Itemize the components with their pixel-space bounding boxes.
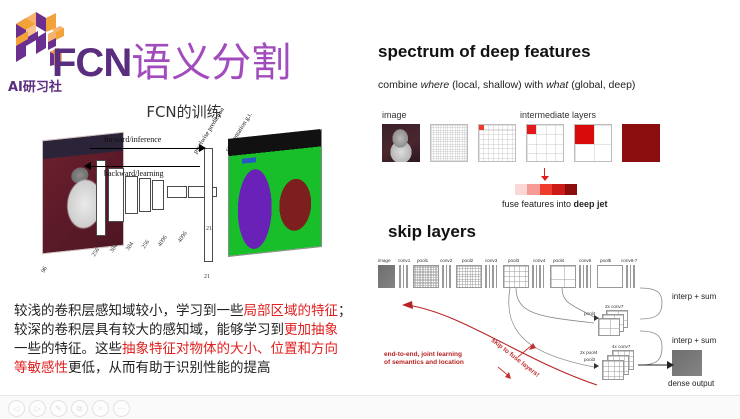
copy-button[interactable]: ⧉ <box>71 400 88 417</box>
pen-icon: ✎ <box>55 404 62 413</box>
image-label: image <box>382 110 407 120</box>
back-icon: ◁ <box>13 404 19 413</box>
title-latin: FCN <box>52 41 131 85</box>
subtitle-em-what: what <box>546 79 568 91</box>
image-thumbnail <box>382 124 420 162</box>
copy-icon: ⧉ <box>77 404 83 414</box>
activation-cell <box>479 125 484 130</box>
body-line4-b: 更低，从而有助于识别性能的提高 <box>68 360 271 376</box>
more-button[interactable]: ⋯ <box>113 400 130 417</box>
title-chinese: 语义分割 <box>131 40 291 86</box>
feature-grid-2 <box>574 124 612 162</box>
play-icon: ▷ <box>34 404 40 413</box>
activation-cell <box>527 125 536 134</box>
deep-jet-colorbar <box>515 184 577 195</box>
input-depth-label: 96 <box>41 266 49 274</box>
body-line2-highlight: 更加抽象 <box>284 322 338 338</box>
feature-grid-1 <box>622 124 660 162</box>
layer-depth-label: 4096 <box>177 231 189 244</box>
jet-swatch <box>552 184 564 195</box>
body-line2-a: 较深的卷积层具有较大的感知域，能够学习到 <box>14 322 284 338</box>
fuse-arrow-head <box>541 176 549 181</box>
conv-slab <box>167 186 187 198</box>
body-line3-highlight: 抽象特征对物体的大小、位置和方向 <box>122 341 338 357</box>
body-line1-highlight: 局部区域的特征 <box>244 303 339 319</box>
brand-subtitle: AI研习社 <box>8 76 62 95</box>
jet-swatch <box>515 184 527 195</box>
body-paragraph: 较浅的卷积层感知域较小，学习到一些局部区域的特征； 较深的卷积层具有较大的感知域… <box>14 302 358 378</box>
fuse-caption-strong: deep jet <box>574 199 608 209</box>
skip-connectors <box>372 255 740 395</box>
slide-root: FCN语义分割 AI研习社 FCN的训练 96 256 384 384 256 … <box>0 0 740 418</box>
body-line3-a: 一些的特征。这些 <box>14 341 122 357</box>
feature-grid-8 <box>478 124 516 162</box>
right-panel: spectrum of deep features combine where … <box>372 0 740 395</box>
jet-swatch <box>527 184 539 195</box>
forward-arrow-line <box>90 148 200 149</box>
backward-arrow-head <box>84 162 91 170</box>
edit-pen-button[interactable]: ✎ <box>50 400 67 417</box>
left-panel: FCN语义分割 AI研习社 FCN的训练 96 256 384 384 256 … <box>0 0 368 395</box>
spectrum-subtitle: combine where (local, shallow) with what… <box>378 79 635 91</box>
end-to-end-line1: end-to-end, joint learning <box>384 351 462 358</box>
play-button[interactable]: ▷ <box>29 400 46 417</box>
subtitle-mid: (local, shallow) with <box>449 79 546 91</box>
page-title: FCN语义分割 <box>52 30 291 88</box>
conv-slab <box>139 178 151 212</box>
search-icon: ⌕ <box>98 404 102 414</box>
backward-arrow-line <box>90 166 200 167</box>
back-button[interactable]: ◁ <box>8 400 25 417</box>
layer-depth-label: 21 <box>206 226 212 232</box>
end-to-end-note: end-to-end, joint learning of semantics … <box>384 351 464 367</box>
feature-grid-16 <box>430 124 468 162</box>
output-depth-label: 21 <box>204 274 210 280</box>
subtitle-post: (global, deep) <box>568 79 635 91</box>
subtitle-pre: combine <box>378 79 421 91</box>
jet-swatch <box>565 184 577 195</box>
body-line1-a: 较浅的卷积层感知域较小，学习到一些 <box>14 303 244 319</box>
more-icon: ⋯ <box>118 404 126 413</box>
layer-depth-label: 256 <box>141 239 151 250</box>
conv-slab <box>125 176 138 214</box>
heading-spectrum: spectrum of deep features <box>378 42 591 62</box>
fuse-arrow-line <box>544 168 545 176</box>
feature-grid-4 <box>526 124 564 162</box>
layer-depth-label: 384 <box>125 241 135 252</box>
layer-depth-label: 4096 <box>157 235 169 248</box>
prediction-slab <box>204 148 213 262</box>
section-title-fcn-training: FCN的训练 <box>0 101 368 122</box>
heading-skip-layers: skip layers <box>388 222 476 242</box>
backward-label: backward/learning <box>104 169 164 178</box>
forward-label: forward/inference <box>104 135 161 144</box>
end-to-end-line2: of semantics and location <box>384 359 464 366</box>
jet-swatch <box>540 184 552 195</box>
intermediate-layers-label: intermediate layers <box>520 110 596 120</box>
fcn-training-diagram: 96 256 384 384 256 4096 4096 21 21 forwa… <box>30 122 340 292</box>
brand-header: FCN语义分割 AI研习社 <box>4 4 344 96</box>
body-line1-b: ； <box>338 303 352 319</box>
bottom-toolbar[interactable]: ◁ ▷ ✎ ⧉ ⌕ ⋯ <box>0 395 740 419</box>
search-button[interactable]: ⌕ <box>92 400 109 417</box>
conv-slab <box>152 180 164 210</box>
fuse-caption-pre: fuse features into <box>502 199 574 209</box>
subtitle-em-where: where <box>421 79 450 91</box>
body-line4-highlight: 等敏感性 <box>14 360 68 376</box>
activation-cell <box>575 125 594 144</box>
fuse-caption: fuse features into deep jet <box>502 199 608 209</box>
